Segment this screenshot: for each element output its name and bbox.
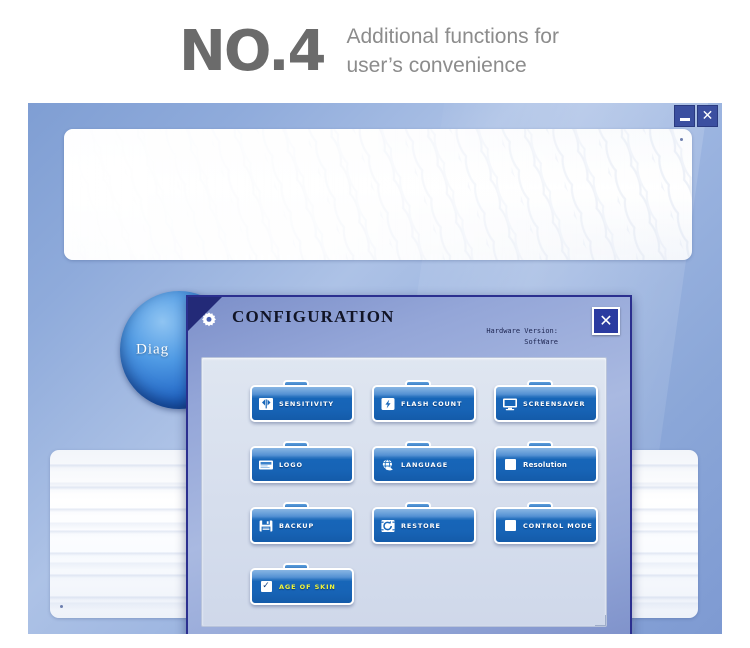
tab-body: LOGO bbox=[250, 446, 354, 483]
slide-subtitle: Additional functions for user’s convenie… bbox=[347, 23, 559, 80]
panel-marker-dot bbox=[680, 138, 683, 141]
dialog-title: CONFIGURATION bbox=[232, 307, 395, 327]
close-icon: ✕ bbox=[702, 109, 714, 123]
sensitivity-icon bbox=[258, 397, 274, 411]
screenshot-root: NO.4 Additional functions for user’s con… bbox=[0, 0, 750, 648]
flash-count-button[interactable]: FLASH COUNT bbox=[372, 380, 476, 422]
tab-body: LANGUAGE bbox=[372, 446, 476, 483]
version-info: Hardware Version: SoftWare bbox=[486, 326, 558, 348]
gear-icon bbox=[200, 311, 218, 329]
dialog-body: SENSITIVITY bbox=[201, 357, 607, 627]
slide-number: NO.4 bbox=[179, 24, 324, 80]
refresh-icon bbox=[380, 519, 396, 533]
screensaver-button[interactable]: SCREENSAVER bbox=[494, 380, 598, 422]
tab-body: Resolution bbox=[494, 446, 598, 483]
language-button[interactable]: LANGUAGE bbox=[372, 441, 476, 483]
control-mode-button[interactable]: CONTROL MODE bbox=[494, 502, 598, 544]
backup-button[interactable]: BACKUP bbox=[250, 502, 354, 544]
tab-body: RESTORE bbox=[372, 507, 476, 544]
slide-header-inner: NO.4 Additional functions for user’s con… bbox=[179, 23, 559, 80]
bottom-panel-marker-dot bbox=[60, 605, 63, 608]
minimize-icon bbox=[680, 118, 690, 121]
slide-subtitle-line1: Additional functions for bbox=[347, 23, 559, 51]
checkmark-glyph: ✓ bbox=[261, 581, 272, 592]
globe-icon bbox=[380, 458, 396, 472]
slide-subtitle-line2: user’s convenience bbox=[347, 52, 559, 80]
tab-body: FLASH COUNT bbox=[372, 385, 476, 422]
slide-header: NO.4 Additional functions for user’s con… bbox=[0, 0, 750, 103]
minimize-button[interactable] bbox=[674, 105, 695, 127]
dialog-header: CONFIGURATION Hardware Version: SoftWare… bbox=[188, 297, 630, 354]
flash-count-button-label: FLASH COUNT bbox=[401, 400, 462, 408]
tab-body: SCREENSAVER bbox=[494, 385, 598, 422]
window-controls: ✕ bbox=[674, 105, 718, 127]
restore-button-label: RESTORE bbox=[401, 522, 441, 530]
tab-body: CONTROL MODE bbox=[494, 507, 598, 544]
scale-texture bbox=[64, 129, 692, 260]
resolution-button[interactable]: Resolution bbox=[494, 441, 598, 483]
dialog-close-button[interactable]: ✕ bbox=[592, 307, 620, 335]
square-glyph bbox=[505, 459, 516, 470]
language-button-label: LANGUAGE bbox=[401, 461, 448, 469]
monitor-icon bbox=[502, 397, 518, 411]
configuration-button-grid: SENSITIVITY bbox=[250, 380, 598, 605]
resolution-button-label: Resolution bbox=[523, 461, 567, 469]
hardware-version-label: Hardware Version: bbox=[486, 326, 558, 337]
configuration-dialog: CONFIGURATION Hardware Version: SoftWare… bbox=[186, 295, 632, 634]
screensaver-button-label: SCREENSAVER bbox=[523, 400, 585, 408]
tab-body: ✓ AGE OF SKIN bbox=[250, 568, 354, 605]
flash-icon bbox=[380, 397, 396, 411]
logo-icon bbox=[258, 458, 274, 472]
tab-body: SENSITIVITY bbox=[250, 385, 354, 422]
close-icon: ✕ bbox=[599, 313, 612, 329]
restore-button[interactable]: RESTORE bbox=[372, 502, 476, 544]
software-version-label: SoftWare bbox=[486, 337, 558, 348]
age-of-skin-button[interactable]: ✓ AGE OF SKIN bbox=[250, 563, 354, 605]
diagnosis-sphere-label: Diag bbox=[136, 342, 169, 359]
logo-button-label: LOGO bbox=[279, 461, 303, 469]
application-window: ✕ bbox=[28, 103, 722, 634]
checkbox-glyph bbox=[505, 520, 516, 531]
sensitivity-button[interactable]: SENSITIVITY bbox=[250, 380, 354, 422]
save-icon bbox=[258, 519, 274, 533]
control-mode-button-label: CONTROL MODE bbox=[523, 522, 593, 530]
square-icon bbox=[502, 458, 518, 472]
checkbox-on-icon[interactable]: ✓ bbox=[258, 580, 274, 594]
backup-button-label: BACKUP bbox=[279, 522, 314, 530]
checkbox-off-icon[interactable] bbox=[502, 519, 518, 533]
logo-button[interactable]: LOGO bbox=[250, 441, 354, 483]
top-content-panel bbox=[64, 129, 692, 260]
tab-body: BACKUP bbox=[250, 507, 354, 544]
age-of-skin-button-label: AGE OF SKIN bbox=[279, 583, 336, 591]
close-button[interactable]: ✕ bbox=[697, 105, 718, 127]
sensitivity-button-label: SENSITIVITY bbox=[279, 400, 334, 408]
